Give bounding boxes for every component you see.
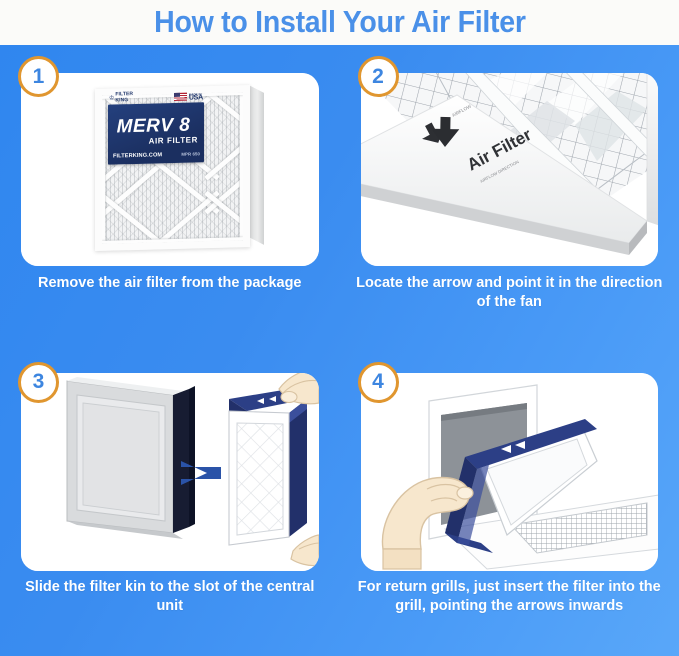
filter-into-return-grill-illustration	[361, 373, 659, 571]
country-label: USA	[189, 96, 203, 100]
step-panel-2: AIRFLOW Air Filter AIRFLOW DIRECTION 2 L…	[340, 45, 679, 351]
filter-into-central-unit-illustration	[21, 373, 319, 571]
label-footer-row: FILTERKING.COM MPR 650	[113, 151, 200, 159]
step-panel-1: ♔ FILTER KING MADE IN	[0, 45, 340, 351]
label-brand-row: ♔ FILTER KING MADE IN	[108, 89, 204, 105]
step-caption-2: Locate the arrow and point it in the dir…	[350, 274, 670, 312]
filter-corner-svg: AIRFLOW Air Filter AIRFLOW DIRECTION	[361, 73, 659, 266]
central-unit-svg	[21, 373, 319, 571]
filter-side-edge	[248, 85, 264, 245]
page-title: How to Install Your Air Filter	[154, 6, 525, 39]
step-badge-1: 1	[18, 56, 59, 97]
filter-photo: ♔ FILTER KING MADE IN	[95, 85, 250, 251]
infographic-root: How to Install Your Air Filter	[0, 0, 679, 656]
central-unit-body	[67, 377, 195, 539]
filter-corner-arrow-photo: AIRFLOW Air Filter AIRFLOW DIRECTION	[361, 73, 659, 266]
made-in-usa-badge: MADE IN USA	[174, 92, 203, 101]
mpr-label: MPR 650	[181, 151, 200, 156]
step-panel-4: 4 For return grills, just insert the fil…	[340, 351, 679, 656]
step-badge-4: 4	[358, 362, 399, 403]
step-badge-3: 3	[18, 362, 59, 403]
new-air-filter	[229, 389, 307, 545]
step-caption-1: Remove the air filter from the package	[10, 274, 330, 293]
product-type-label: AIR FILTER	[108, 135, 198, 146]
brand-line-2: KING	[115, 97, 128, 103]
step-badge-2: 2	[358, 56, 399, 97]
brand-name: FILTER KING	[115, 92, 133, 103]
step-caption-4: For return grills, just insert the filte…	[350, 578, 670, 616]
step-card-4	[361, 373, 659, 571]
filter-rib-right	[240, 92, 245, 240]
header-bar: How to Install Your Air Filter	[0, 0, 679, 45]
step-card-3	[21, 373, 319, 571]
filter-king-logo: ♔ FILTER KING	[109, 92, 133, 103]
lower-hand	[291, 535, 319, 566]
website-label: FILTERKING.COM	[113, 152, 162, 159]
step-card-2: AIRFLOW Air Filter AIRFLOW DIRECTION	[361, 73, 659, 266]
merv-rating: MERV 8	[108, 115, 199, 136]
steps-grid: ♔ FILTER KING MADE IN	[0, 45, 679, 656]
upper-hand	[279, 373, 319, 404]
filter-rib-left	[100, 96, 105, 244]
air-filter-product-photo: ♔ FILTER KING MADE IN	[21, 73, 319, 266]
filter-product-label: ♔ FILTER KING MADE IN	[108, 102, 204, 165]
return-grill-svg	[361, 373, 659, 571]
step-panel-3: 3 Slide the filter kin to the slot of th…	[0, 351, 340, 656]
made-in-usa-text: MADE IN USA	[189, 92, 203, 100]
step-card-1: ♔ FILTER KING MADE IN	[21, 73, 319, 266]
step-caption-3: Slide the filter kin to the slot of the …	[10, 578, 330, 616]
crown-icon: ♔	[109, 95, 114, 101]
usa-flag-icon	[174, 92, 187, 100]
